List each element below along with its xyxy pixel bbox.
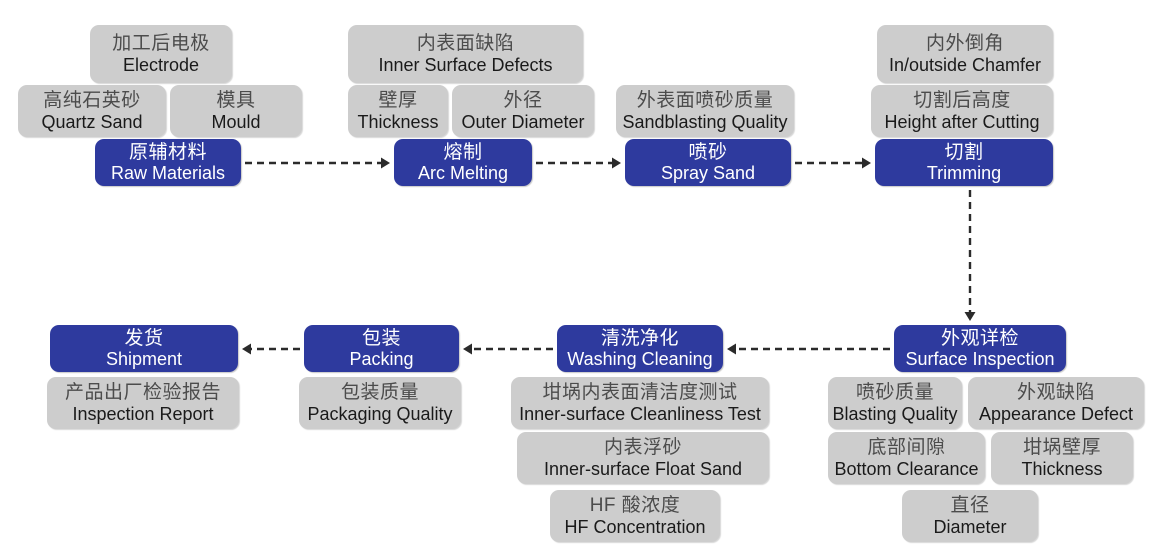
stage-node-washing-cleaning[interactable]: 清洗净化Washing Cleaning	[557, 325, 723, 372]
label-en: Diameter	[933, 517, 1006, 537]
stage-node-raw-materials[interactable]: 原辅材料Raw Materials	[95, 139, 241, 186]
connector-surface-to-washing	[727, 344, 890, 355]
label-cn: 喷砂质量	[856, 382, 934, 403]
stage-node-packing[interactable]: 包装Packing	[304, 325, 459, 372]
label-cn: 底部间隙	[867, 437, 945, 458]
attribute-node-appearance-defect[interactable]: 外观缺陷Appearance Defect	[968, 377, 1144, 429]
connector-trimming-to-surface	[965, 190, 976, 321]
label-en: Height after Cutting	[884, 112, 1039, 132]
attribute-node-inner-float-sand[interactable]: 内表浮砂Inner-surface Float Sand	[517, 432, 769, 484]
stage-node-trimming[interactable]: 切割Trimming	[875, 139, 1053, 186]
label-en: Inspection Report	[72, 404, 213, 424]
label-cn: 切割后高度	[913, 90, 1011, 111]
stage-node-spray-sand[interactable]: 喷砂Spray Sand	[625, 139, 791, 186]
attribute-node-inner-cleanliness-test[interactable]: 坩埚内表面清洁度测试Inner-surface Cleanliness Test	[511, 377, 769, 429]
label-cn: 原辅材料	[129, 142, 207, 163]
label-cn: 产品出厂检验报告	[65, 382, 221, 403]
connector-spray-to-trimming	[795, 158, 871, 169]
label-cn: 高纯石英砂	[43, 90, 141, 111]
label-en: Trimming	[927, 163, 1001, 183]
label-en: Shipment	[106, 349, 182, 369]
label-en: Appearance Defect	[979, 404, 1133, 424]
label-en: Blasting Quality	[832, 404, 957, 424]
arrowhead-icon	[965, 312, 976, 321]
label-en: Raw Materials	[111, 163, 225, 183]
attribute-node-in-outside-chamfer[interactable]: 内外倒角In/outside Chamfer	[877, 25, 1053, 83]
attribute-node-crucible-thickness[interactable]: 坩埚壁厚Thickness	[991, 432, 1133, 484]
attribute-node-mould[interactable]: 模具Mould	[170, 85, 302, 137]
label-en: Sandblasting Quality	[622, 112, 787, 132]
label-en: Outer Diameter	[461, 112, 584, 132]
label-cn: 坩埚内表面清洁度测试	[542, 382, 737, 403]
label-cn: 发货	[124, 328, 163, 349]
connector-packing-to-shipment	[242, 344, 300, 355]
label-cn: 外表面喷砂质量	[637, 90, 774, 111]
label-cn: 外观缺陷	[1017, 382, 1095, 403]
label-en: Packing	[349, 349, 413, 369]
label-en: Thickness	[357, 112, 438, 132]
label-cn: HF 酸浓度	[590, 495, 681, 516]
attribute-node-sandblasting-quality[interactable]: 外表面喷砂质量Sandblasting Quality	[616, 85, 794, 137]
label-cn: 包装	[362, 328, 401, 349]
label-cn: 切割	[944, 142, 983, 163]
label-cn: 内外倒角	[926, 33, 1004, 54]
label-en: Surface Inspection	[905, 349, 1054, 369]
attribute-node-inner-surface-defects[interactable]: 内表面缺陷Inner Surface Defects	[348, 25, 583, 83]
attribute-node-inspection-report[interactable]: 产品出厂检验报告Inspection Report	[47, 377, 239, 429]
stage-node-arc-melting[interactable]: 熔制Arc Melting	[394, 139, 532, 186]
arrowhead-icon	[381, 158, 390, 169]
connector-raw-to-melting	[245, 158, 390, 169]
label-en: Washing Cleaning	[567, 349, 712, 369]
label-en: HF Concentration	[564, 517, 705, 537]
label-cn: 内表浮砂	[604, 437, 682, 458]
label-en: Electrode	[123, 55, 199, 75]
label-cn: 外观详检	[941, 328, 1019, 349]
attribute-node-hf-concentration[interactable]: HF 酸浓度HF Concentration	[550, 490, 720, 542]
arrowhead-icon	[463, 344, 472, 355]
label-cn: 模具	[216, 90, 255, 111]
label-en: Inner Surface Defects	[378, 55, 552, 75]
label-cn: 包装质量	[341, 382, 419, 403]
label-cn: 内表面缺陷	[417, 33, 515, 54]
attribute-node-outer-diameter[interactable]: 外径Outer Diameter	[452, 85, 594, 137]
attribute-node-diameter[interactable]: 直径Diameter	[902, 490, 1038, 542]
arrowhead-icon	[727, 344, 736, 355]
label-cn: 外径	[503, 90, 542, 111]
attribute-node-electrode[interactable]: 加工后电极Electrode	[90, 25, 232, 83]
label-en: Thickness	[1021, 459, 1102, 479]
attribute-node-packaging-quality[interactable]: 包装质量Packaging Quality	[299, 377, 461, 429]
label-cn: 加工后电极	[112, 33, 210, 54]
label-en: Inner-surface Cleanliness Test	[519, 404, 761, 424]
process-flow-diagram: 加工后电极Electrode高纯石英砂Quartz Sand模具Mould内表面…	[0, 0, 1170, 558]
label-en: Packaging Quality	[307, 404, 452, 424]
arrowhead-icon	[612, 158, 621, 169]
label-cn: 壁厚	[378, 90, 417, 111]
attribute-node-height-after-cutting[interactable]: 切割后高度Height after Cutting	[871, 85, 1053, 137]
attribute-node-blasting-quality[interactable]: 喷砂质量Blasting Quality	[828, 377, 962, 429]
label-cn: 喷砂	[688, 142, 727, 163]
stage-node-shipment[interactable]: 发货Shipment	[50, 325, 238, 372]
label-cn: 直径	[950, 495, 989, 516]
connector-washing-to-packing	[463, 344, 553, 355]
label-cn: 清洗净化	[601, 328, 679, 349]
connector-melting-to-spray	[536, 158, 621, 169]
label-en: Mould	[211, 112, 260, 132]
label-en: Bottom Clearance	[834, 459, 978, 479]
label-en: Quartz Sand	[41, 112, 142, 132]
arrowhead-icon	[862, 158, 871, 169]
label-cn: 坩埚壁厚	[1023, 437, 1101, 458]
label-en: Inner-surface Float Sand	[544, 459, 742, 479]
label-en: Spray Sand	[661, 163, 755, 183]
attribute-node-bottom-clearance[interactable]: 底部间隙Bottom Clearance	[828, 432, 985, 484]
stage-node-surface-inspection[interactable]: 外观详检Surface Inspection	[894, 325, 1066, 372]
label-cn: 熔制	[443, 142, 482, 163]
arrowhead-icon	[242, 344, 251, 355]
label-en: In/outside Chamfer	[889, 55, 1041, 75]
attribute-node-thickness-melting[interactable]: 壁厚Thickness	[348, 85, 448, 137]
attribute-node-quartz-sand[interactable]: 高纯石英砂Quartz Sand	[18, 85, 166, 137]
label-en: Arc Melting	[418, 163, 508, 183]
